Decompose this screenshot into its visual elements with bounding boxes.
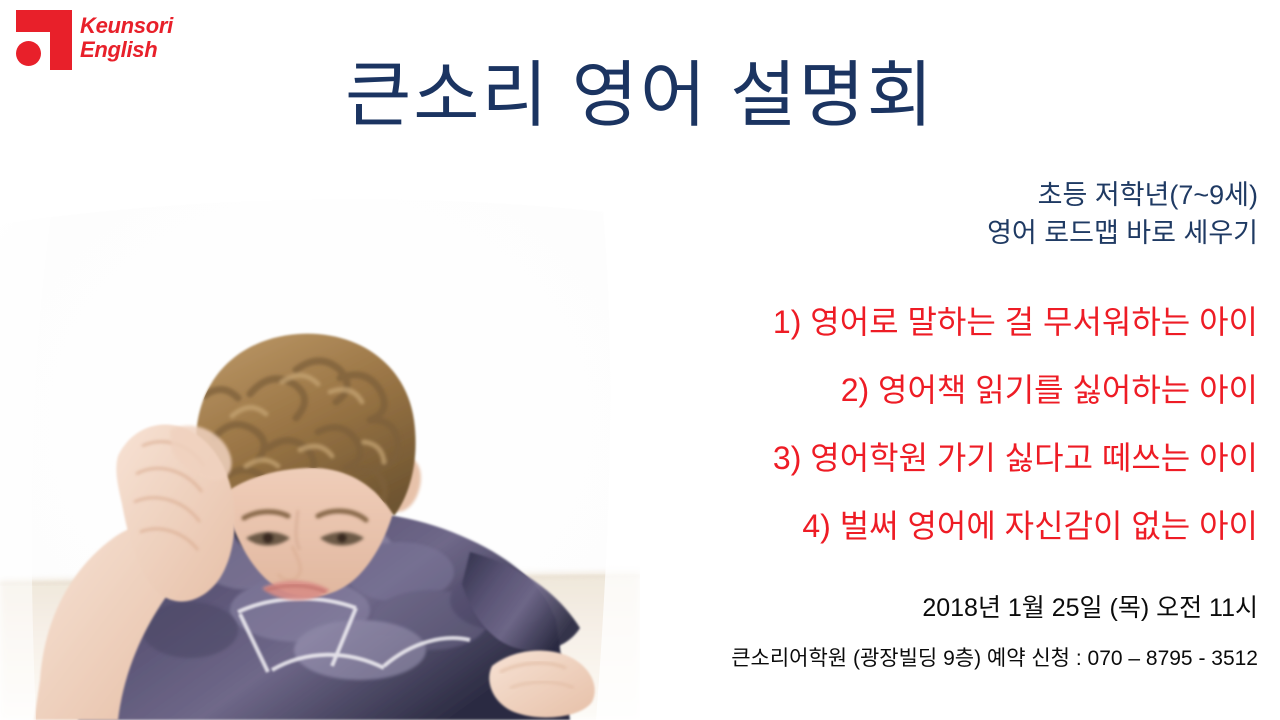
target-audience-list: 1) 영어로 말하는 걸 무서워하는 아이 2) 영어책 읽기를 싫어하는 아이… xyxy=(618,288,1258,560)
brand-name-line1: Keunsori xyxy=(80,14,192,38)
keunsori-giyeok-mark-icon xyxy=(14,8,72,70)
venue-and-contact: 큰소리어학원 (광장빌딩 9층) 예약 신청 : 070 – 8795 - 35… xyxy=(731,645,1258,673)
poster-title: 큰소리 영어 설명회 xyxy=(250,52,1030,140)
list-item: 4) 벌써 영어에 자신감이 없는 아이 xyxy=(618,492,1258,560)
logo-mark-dot xyxy=(16,41,41,66)
brand-logo: Keunsori English xyxy=(14,8,189,70)
subtitle-line-2: 영어 로드맵 바로 세우기 xyxy=(987,214,1258,252)
boy-studying-photo xyxy=(0,180,640,720)
list-item: 2) 영어책 읽기를 싫어하는 아이 xyxy=(618,356,1258,424)
logo-mark-vertical-bar xyxy=(50,10,72,70)
event-datetime: 2018년 1월 25일 (목) 오전 11시 xyxy=(922,592,1258,624)
poster-canvas: Keunsori English 큰소리 영어 설명회 xyxy=(0,0,1280,720)
list-item: 1) 영어로 말하는 걸 무서워하는 아이 xyxy=(618,288,1258,356)
brand-name-line2: English xyxy=(80,38,192,62)
subtitle-line-1: 초등 저학년(7~9세) xyxy=(987,176,1258,214)
poster-subtitle: 초등 저학년(7~9세) 영어 로드맵 바로 세우기 xyxy=(987,176,1258,252)
list-item: 3) 영어학원 가기 싫다고 떼쓰는 아이 xyxy=(618,424,1258,492)
boy-studying-illustration xyxy=(0,180,640,720)
brand-wordmark: Keunsori English xyxy=(80,14,192,62)
